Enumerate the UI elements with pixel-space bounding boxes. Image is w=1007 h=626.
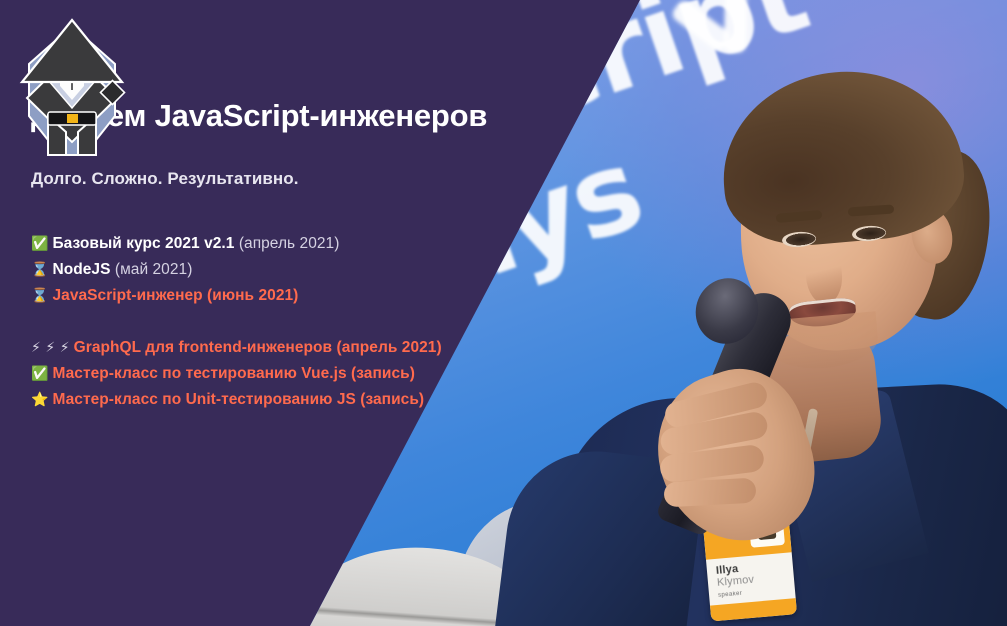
course-title: GraphQL для frontend-инженеров (апрель 2… [74, 339, 442, 356]
course-title: Мастер-класс по тестированию Vue.js (зап… [52, 365, 414, 382]
hourglass-icon: ⌛ [31, 262, 48, 278]
speaker-finger [663, 478, 756, 508]
list-item: ⌛JavaScript-инженер (июнь 2021) [31, 283, 501, 309]
speaker-hair [715, 62, 969, 252]
course-list-secondary: ⚡ ⚡ ⚡GraphQL для frontend-инженеров (апр… [31, 309, 501, 413]
lightning-bolt-icon: ⚡ ⚡ ⚡ [31, 340, 70, 356]
star-icon: ⭐ [31, 392, 48, 408]
course-list-primary: ✅Базовый курс 2021 v2.1 (апрель 2021) ⌛N… [31, 189, 501, 309]
check-mark-icon: ✅ [31, 236, 48, 252]
list-item: ⚡ ⚡ ⚡GraphQL для frontend-инженеров (апр… [31, 335, 501, 361]
badge-last-name: Klymov [717, 574, 755, 589]
badge-name: Illya Klymov [715, 562, 754, 589]
course-title: Базовый курс 2021 v2.1 [52, 235, 234, 252]
course-title: JavaScript-инженер (июнь 2021) [52, 287, 298, 304]
check-mark-icon: ✅ [31, 366, 48, 382]
course-title: NodeJS [52, 261, 110, 278]
list-item: ⌛NodeJS (май 2021) [31, 257, 501, 283]
hourglass-icon: ⌛ [31, 288, 48, 304]
course-title: Мастер-класс по Unit-тестированию JS (за… [52, 391, 424, 408]
ninja-cat-logo [18, 12, 126, 157]
list-item: ✅Базовый курс 2021 v2.1 (апрель 2021) [31, 231, 501, 257]
presentation-slide: vaScript wdays [0, 0, 1007, 626]
badge-role: speaker [718, 591, 743, 599]
list-item: ✅Мастер-класс по тестированию Vue.js (за… [31, 361, 501, 387]
list-item: ⭐Мастер-класс по Unit-тестированию JS (з… [31, 387, 501, 413]
course-note: (май 2021) [115, 261, 193, 278]
course-note: (апрель 2021) [239, 235, 340, 252]
